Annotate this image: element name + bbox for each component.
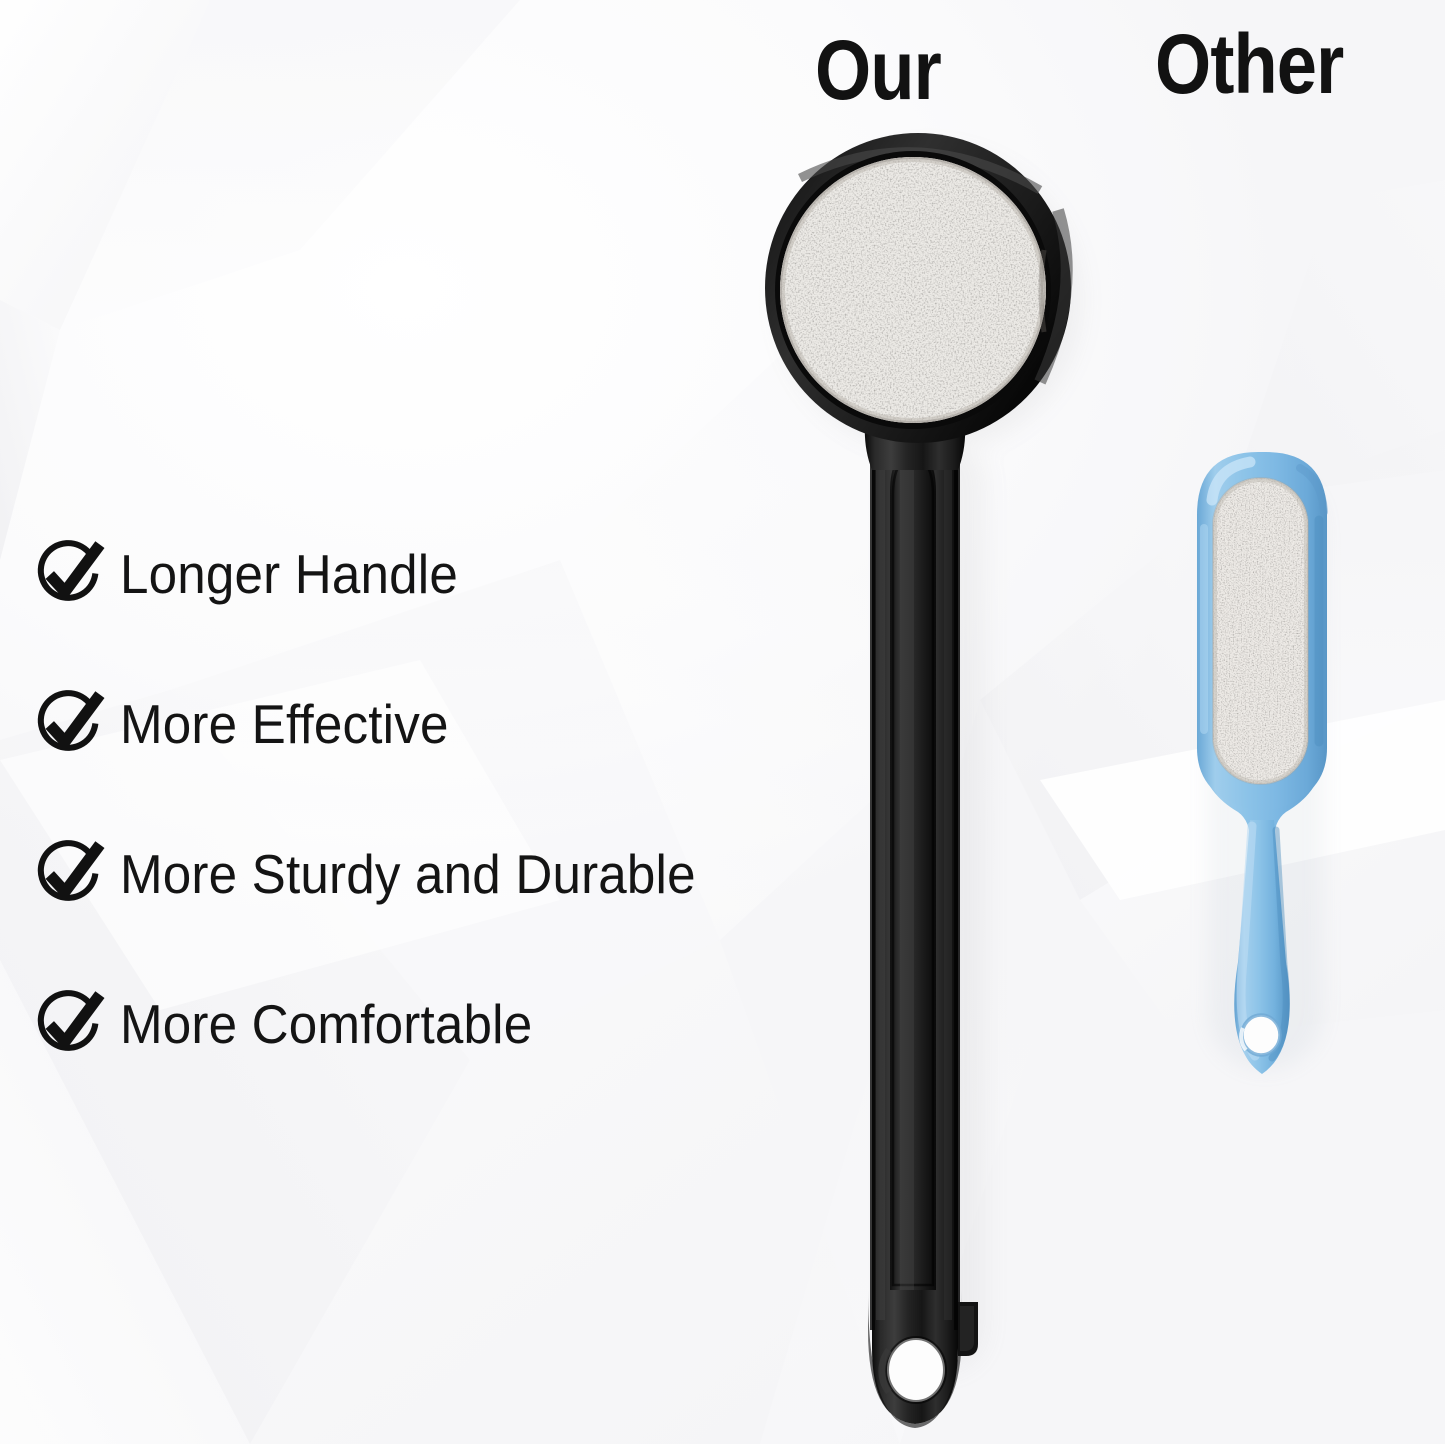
check-circle-icon <box>30 837 106 913</box>
feature-list: Longer Handle More Effective More Sturdy… <box>30 500 810 1100</box>
check-circle-icon <box>30 987 106 1063</box>
feature-row: More Sturdy and Durable <box>30 800 810 950</box>
feature-label: More Effective <box>120 696 449 754</box>
feature-row: More Comfortable <box>30 950 810 1100</box>
feature-label: Longer Handle <box>120 546 458 604</box>
check-circle-icon <box>30 687 106 763</box>
comparison-infographic: Our Other <box>0 0 1445 1444</box>
feature-row: Longer Handle <box>30 500 810 650</box>
feature-label: More Sturdy and Durable <box>120 846 696 904</box>
header-other: Other <box>1155 22 1343 106</box>
feature-label: More Comfortable <box>120 996 532 1054</box>
feature-row: More Effective <box>30 650 810 800</box>
header-ours: Our <box>815 28 941 112</box>
check-circle-icon <box>30 537 106 613</box>
